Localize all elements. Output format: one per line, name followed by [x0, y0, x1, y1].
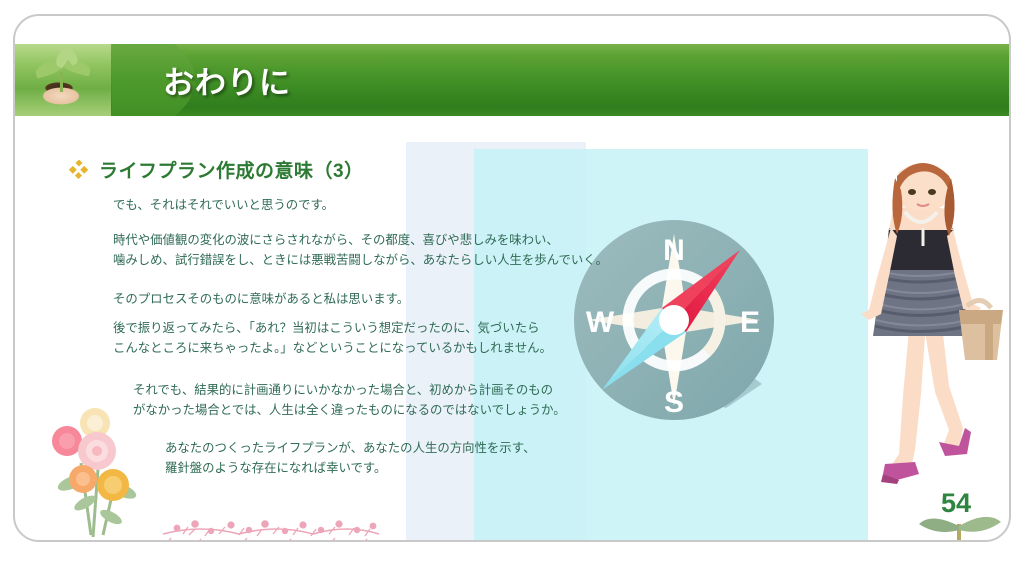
paragraph-6: あなたのつくったライフプランが、あなたの人生の方向性を示す、 羅針盤のような存在… — [165, 439, 535, 478]
compass-label-south: S — [664, 386, 684, 419]
paragraph-3: そのプロセスそのものに意味があると私は思います。 — [113, 290, 409, 310]
slide-header-banner: おわりに — [15, 44, 1011, 116]
seedling-in-hand-photo — [15, 44, 111, 116]
compass-label-east: E — [740, 306, 760, 339]
compass-label-west: W — [586, 306, 615, 339]
floral-vine-border — [161, 514, 381, 542]
walking-woman-illustration — [839, 154, 1005, 484]
section-heading-label: ライフプラン作成の意味（3） — [99, 156, 364, 183]
four-diamond-bullet-icon — [69, 160, 88, 179]
section-heading: ライフプラン作成の意味（3） — [69, 156, 364, 183]
compass-label-north: N — [663, 234, 685, 267]
rose-bouquet-illustration — [41, 399, 157, 539]
slide-title: おわりに — [163, 58, 291, 103]
paragraph-2: 時代や価値観の変化の波にさらされながら、その都度、喜びや悲しみを味わい、 噛みし… — [113, 231, 608, 270]
paragraph-4: 後で振り返ってみたら、「あれ？当初はこういう想定だったのに、気づいたら こんなと… — [113, 319, 552, 358]
page-number: 54 — [941, 488, 971, 519]
presentation-slide: おわりに — [13, 14, 1011, 542]
paragraph-1: でも、それはそれでいいと思うのです。 — [113, 196, 334, 216]
paragraph-5: それでも、結果的に計画通りにいかなかった場合と、初めから計画そのもの がなかった… — [133, 381, 566, 420]
